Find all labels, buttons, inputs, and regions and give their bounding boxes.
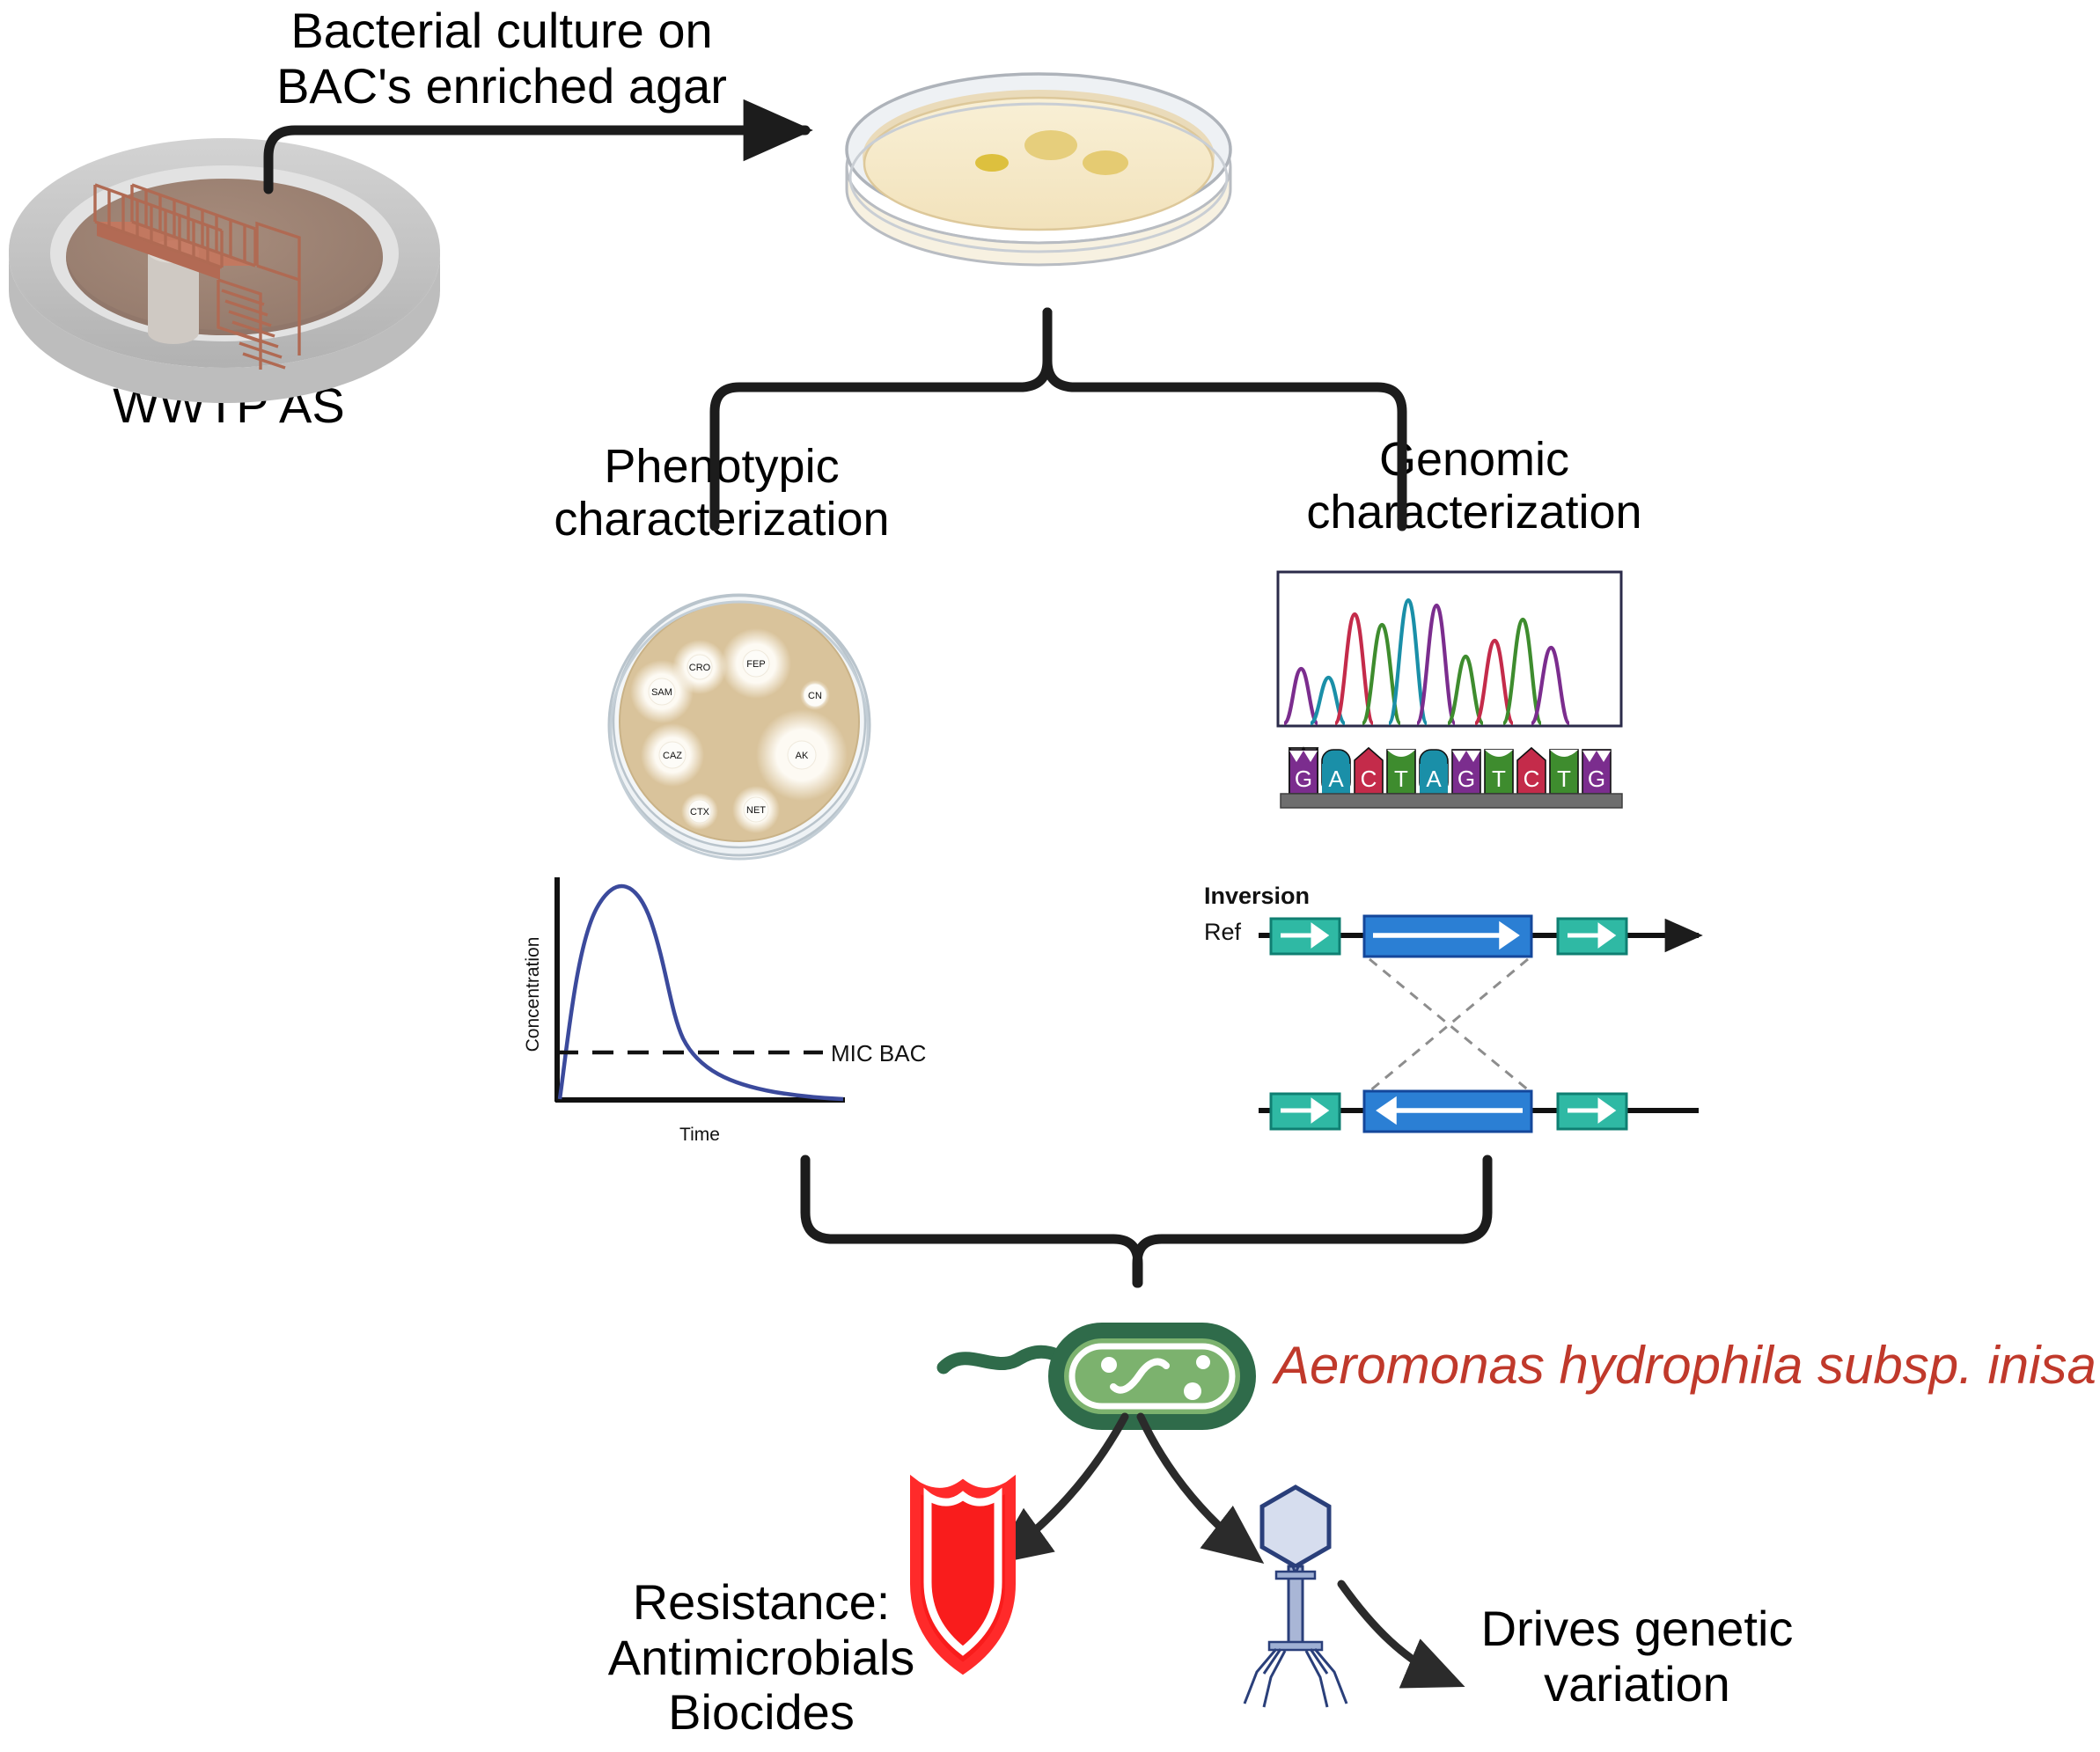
chromatogram-peaks xyxy=(1284,600,1569,723)
bacteriophage-icon xyxy=(1245,1487,1347,1707)
disk-label-CN: CN xyxy=(808,691,822,701)
inversion-schematic: Inversion Ref xyxy=(1204,883,1699,1132)
ref-inverted-block xyxy=(1364,916,1531,957)
chart-xlabel: Time xyxy=(679,1125,720,1145)
disk-label-CAZ: CAZ xyxy=(663,751,682,761)
diagram-vectors: CRO FEP CN AK NET CTX CAZ SAM MIC BAC Co… xyxy=(0,0,2100,1752)
antibiotic-disks xyxy=(649,650,826,823)
disk-label-SAM: SAM xyxy=(651,687,672,698)
disk-label-CTX: CTX xyxy=(690,807,710,817)
mic-threshold-label: MIC BAC xyxy=(831,1040,926,1067)
colony xyxy=(1024,130,1077,160)
branch-left-label: Phenotypic characterization xyxy=(493,440,951,546)
base-8: T xyxy=(1557,766,1571,792)
base-3: T xyxy=(1394,766,1408,792)
base-5: G xyxy=(1458,766,1475,792)
concentration-curve xyxy=(560,886,843,1099)
walkway-rails xyxy=(95,185,255,268)
aeromonas-cell-icon xyxy=(944,1330,1248,1422)
colony xyxy=(975,154,1009,172)
disk-label-AK: AK xyxy=(796,751,809,761)
variant-inverted-block xyxy=(1364,1091,1531,1132)
arrow-to-phage xyxy=(1141,1417,1252,1554)
wwtp-clarifier-icon xyxy=(9,138,440,403)
base-2: C xyxy=(1361,766,1377,792)
organism-label: Aeromonas hydrophila subsp. inisa xyxy=(1274,1336,2100,1395)
base-1: A xyxy=(1328,766,1344,792)
ref-flank-left xyxy=(1271,919,1340,954)
source-label: WWTP AS xyxy=(35,378,422,434)
outcome-left-label: Resistance: Antimicrobials Biocides xyxy=(519,1575,1003,1741)
ref-flank-right xyxy=(1558,919,1626,954)
agar-plate-icon xyxy=(847,74,1230,265)
antibiogram-plate-icon: CRO FEP CN AK NET CTX CAZ SAM xyxy=(609,595,870,859)
colony xyxy=(1083,150,1128,175)
base-7: C xyxy=(1524,766,1540,792)
disk-label-FEP: FEP xyxy=(746,659,765,670)
inversion-crossover-lines xyxy=(1369,959,1530,1091)
mic-concentration-chart: MIC BAC Concentration Time xyxy=(523,877,926,1145)
arrow-culture xyxy=(268,130,805,189)
antibiotic-disk-labels: CRO FEP CN AK NET CTX CAZ SAM xyxy=(651,659,822,817)
chart-ylabel: Concentration xyxy=(523,937,543,1052)
base-4: A xyxy=(1426,766,1442,792)
flagellum xyxy=(944,1352,1072,1367)
base-call-strip: G A C T A G T C T G xyxy=(1281,748,1622,808)
inversion-title: Inversion xyxy=(1204,883,1310,909)
clarifier-stairs xyxy=(218,224,299,370)
sanger-chromatogram: G A C T A G T C T G xyxy=(1278,572,1622,808)
variant-flank-left xyxy=(1271,1094,1340,1129)
base-0: G xyxy=(1295,766,1312,792)
inversion-ref-label: Ref xyxy=(1204,919,1242,945)
phage-tail-fibers xyxy=(1245,1649,1347,1707)
base-6: T xyxy=(1492,766,1506,792)
dna-squiggle xyxy=(1113,1361,1166,1389)
disk-label-CRO: CRO xyxy=(689,663,711,673)
figure-canvas: Bacterial culture on BAC's enriched agar… xyxy=(0,0,2100,1752)
inhibition-halos xyxy=(630,628,848,833)
base-G xyxy=(1289,748,1318,794)
outcome-right-label: Drives genetic variation xyxy=(1426,1602,1848,1712)
variant-flank-right xyxy=(1558,1094,1626,1129)
arrow-to-resistance xyxy=(1003,1417,1125,1556)
top-process-label: Bacterial culture on BAC's enriched agar xyxy=(211,4,792,114)
branch-right-label: Genomic characterization xyxy=(1232,433,1716,539)
merge-brace-bottom xyxy=(805,1160,1487,1283)
base-9: G xyxy=(1588,766,1605,792)
disk-label-NET: NET xyxy=(746,805,766,816)
